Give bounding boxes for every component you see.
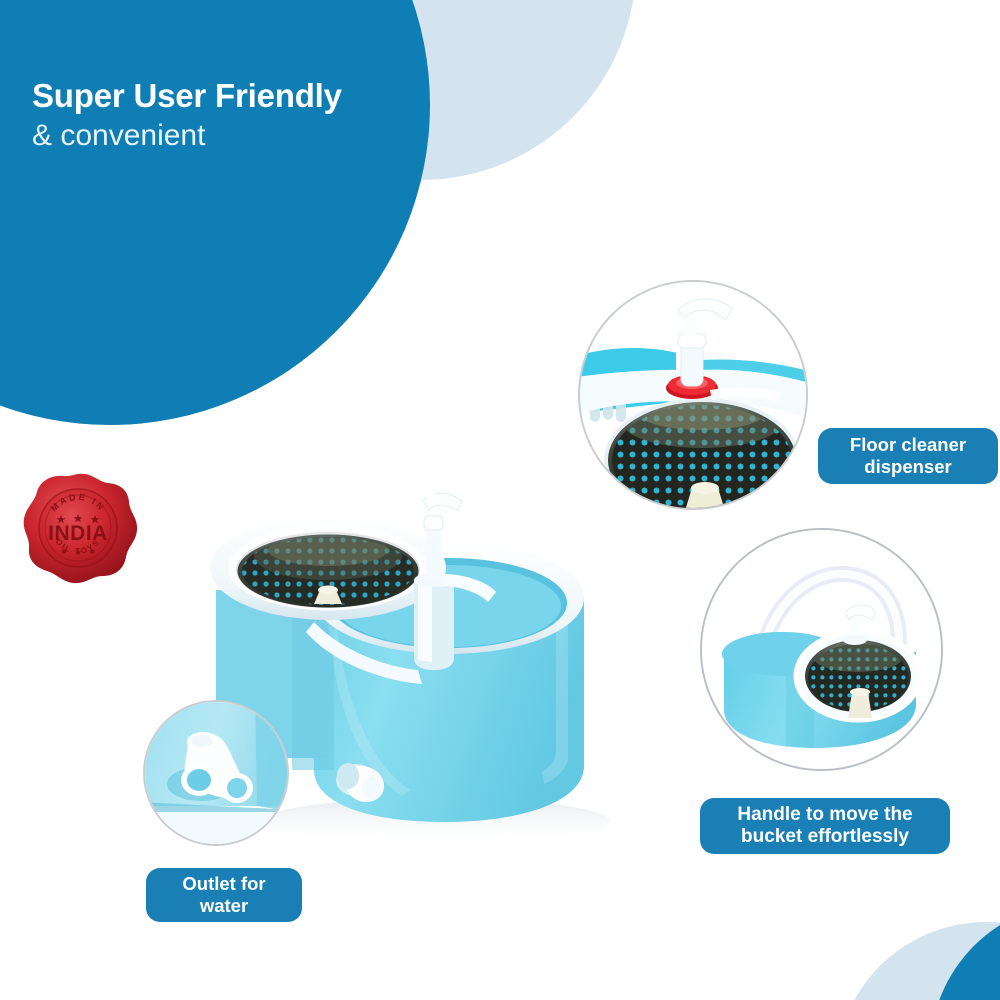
page-subtitle: & convenient <box>32 118 342 154</box>
callout-dispenser-line1: Floor cleaner <box>850 434 966 456</box>
callout-outlet-line2: water <box>182 895 265 917</box>
inset-bucket-handle <box>700 528 943 771</box>
callout-badge-handle[interactable]: Handle to move the bucket effortlessly <box>700 798 950 854</box>
inset-floor-cleaner-dispenser <box>578 280 808 510</box>
callout-handle-line1: Handle to move the <box>737 804 912 826</box>
callout-badge-dispenser[interactable]: Floor cleaner dispenser <box>818 428 998 484</box>
callout-handle-line2: bucket effortlessly <box>737 826 912 848</box>
page-title: Super User Friendly <box>32 76 342 116</box>
callout-dispenser-line2: dispenser <box>850 456 966 478</box>
inset-water-outlet <box>143 700 289 846</box>
poster-canvas: Super User Friendly & convenient <box>0 0 1000 1000</box>
callout-badge-outlet[interactable]: Outlet for water <box>146 868 302 922</box>
made-in-india-seal: MADE IN INDIA OIL TOYS <box>16 470 141 590</box>
header-text-block: Super User Friendly & convenient <box>32 76 342 154</box>
callout-outlet-line1: Outlet for <box>182 873 265 895</box>
decor-blue-circle-top <box>0 0 430 425</box>
